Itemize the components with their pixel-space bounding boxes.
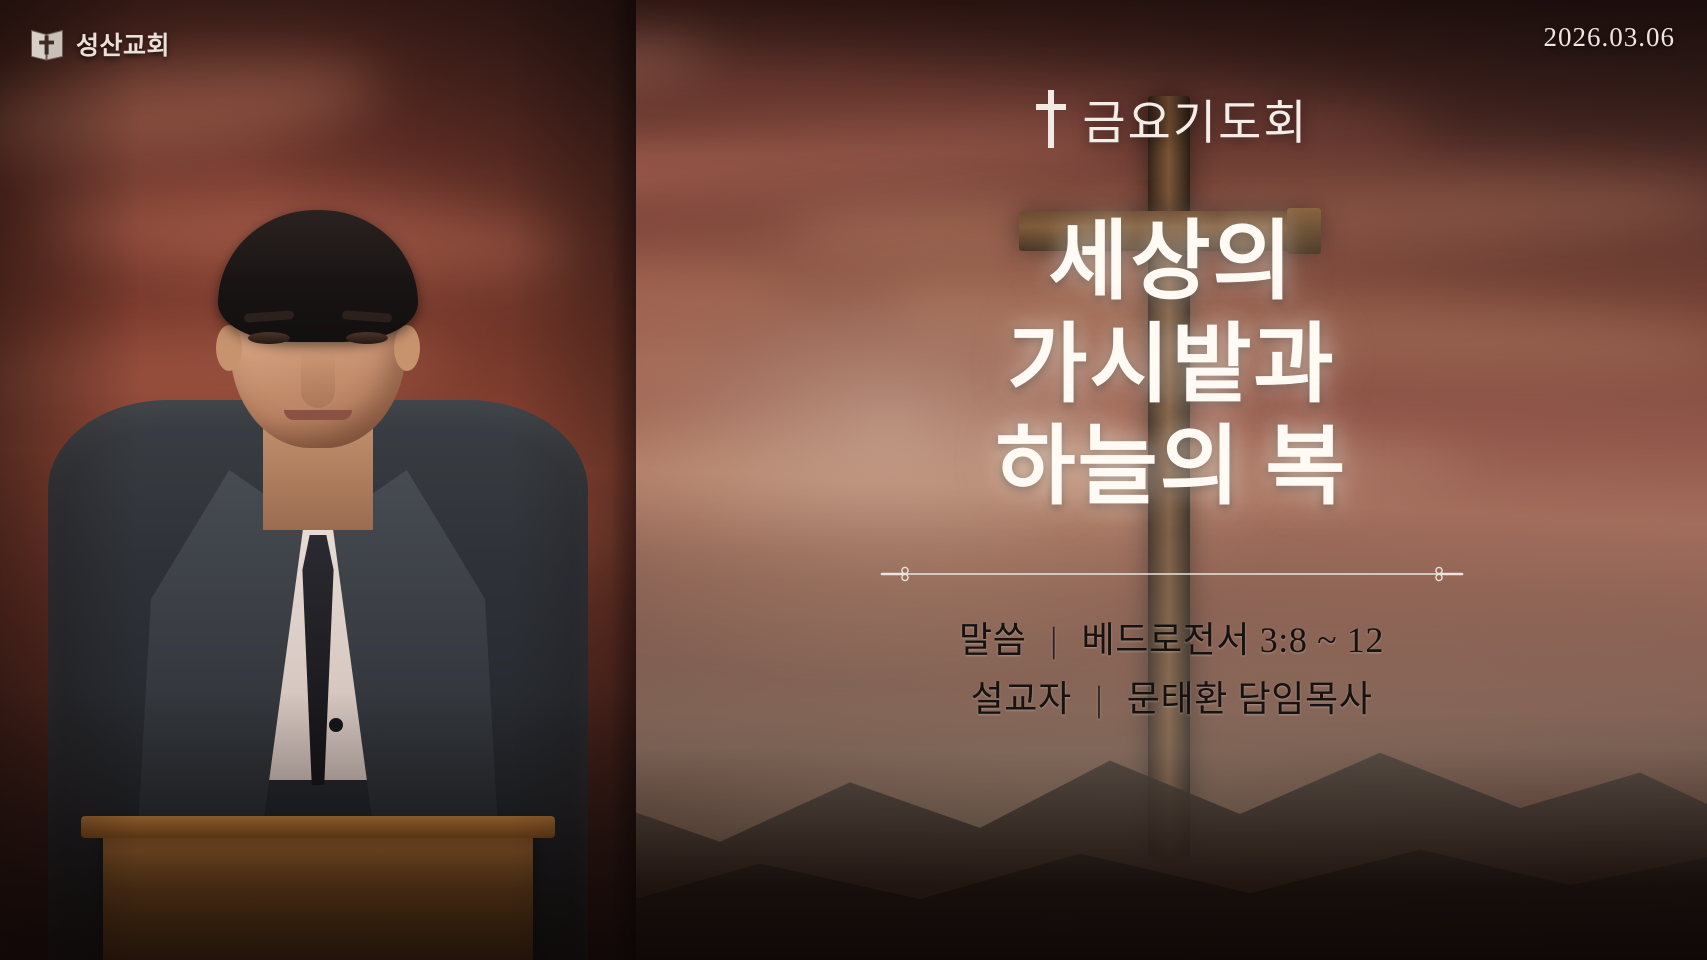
sermon-title-slide: 성산교회 2026.03.06 금요기도회 세상의 가시밭과 하늘의 복 xyxy=(0,0,1707,960)
scripture-reference: 베드로전서 3:8 ~ 12 xyxy=(1082,620,1384,660)
sermon-title-line-3: 하늘의 복 xyxy=(996,416,1348,519)
cross-icon xyxy=(1034,90,1068,148)
scripture-separator: | xyxy=(1036,620,1072,660)
preacher-separator: | xyxy=(1081,679,1117,719)
sermon-title-line-2: 가시밭과 xyxy=(996,314,1348,417)
scripture-label: 말씀 xyxy=(959,620,1026,660)
church-brand[interactable]: 성산교회 xyxy=(30,26,170,62)
pastor-photo-panel xyxy=(0,0,636,960)
sermon-title-line-1: 세상의 xyxy=(996,211,1348,314)
service-type: 금요기도회 xyxy=(1034,84,1308,153)
nose xyxy=(301,352,335,408)
sermon-title: 세상의 가시밭과 하늘의 복 xyxy=(996,211,1348,519)
photo-right-edge-shadow xyxy=(610,0,636,960)
open-bible-cross-icon xyxy=(30,26,64,62)
preacher-name: 문태환 담임목사 xyxy=(1127,679,1373,719)
ornamental-divider xyxy=(872,519,1472,585)
mouth xyxy=(284,410,352,420)
service-name: 금요기도회 xyxy=(1082,84,1308,153)
sermon-content: 금요기도회 세상의 가시밭과 하늘의 복 말씀 | 베드로전서 3:8 ~ 12 xyxy=(636,0,1707,960)
wooden-pulpit xyxy=(103,830,533,960)
eye-left xyxy=(248,332,290,344)
preacher-row: 설교자 | 문태환 담임목사 xyxy=(959,670,1384,729)
ear-left xyxy=(216,325,242,371)
eye-right xyxy=(346,332,388,344)
church-name: 성산교회 xyxy=(76,26,170,62)
service-date: 2026.03.06 xyxy=(1544,22,1676,53)
ear-right xyxy=(394,325,420,371)
preacher-label: 설교자 xyxy=(971,679,1072,719)
sermon-details: 말씀 | 베드로전서 3:8 ~ 12 설교자 | 문태환 담임목사 xyxy=(959,611,1384,730)
scripture-row: 말씀 | 베드로전서 3:8 ~ 12 xyxy=(959,611,1384,670)
